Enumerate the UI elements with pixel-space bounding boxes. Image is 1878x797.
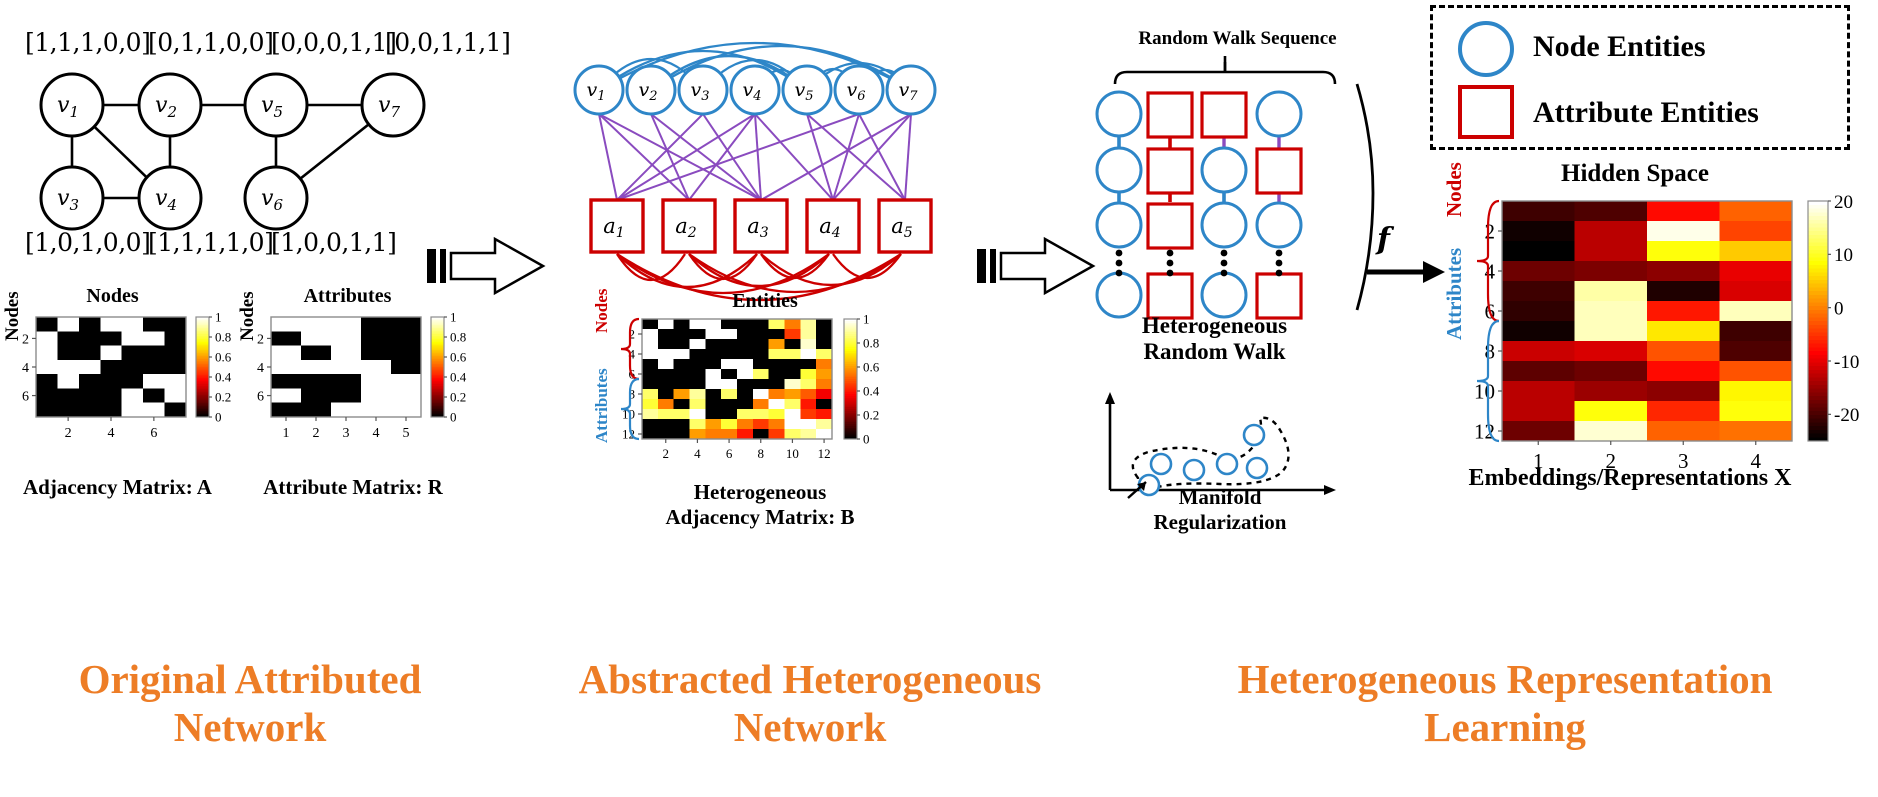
svg-text:20: 20 — [1834, 192, 1853, 213]
svg-text:12: 12 — [622, 427, 635, 442]
svg-text:4: 4 — [108, 426, 115, 441]
panel-heterogeneous-network: v1 v2 v3 v4 v5 v6 v7 a1 a2 a3 a4 a5 — [555, 0, 1045, 525]
svg-text:10: 10 — [1474, 380, 1495, 404]
svg-text:6: 6 — [150, 426, 157, 441]
svg-text:1: 1 — [450, 310, 457, 325]
matrix-a-ylabel: Nodes — [2, 291, 24, 341]
matrix-r-heatmap: 1234524610.80.60.40.20 — [235, 313, 465, 448]
matrix-r-caption: Attribute Matrix: R — [228, 475, 478, 500]
panel-hidden-space: Hidden Space Nodes Attributes 1234246810… — [1430, 160, 1878, 520]
svg-text:0.4: 0.4 — [863, 384, 880, 399]
svg-text:0: 0 — [450, 410, 457, 425]
svg-text:0.4: 0.4 — [215, 370, 232, 385]
hidden-space-ylabel-nodes: Nodes — [1442, 162, 1467, 217]
svg-text:6: 6 — [22, 390, 29, 405]
svg-text:5: 5 — [403, 426, 410, 441]
svg-text:12: 12 — [818, 446, 831, 461]
svg-text:2: 2 — [1485, 220, 1496, 244]
hidden-space-title: Hidden Space — [1460, 160, 1810, 188]
svg-text:3: 3 — [343, 426, 350, 441]
legend-label-attribute-entities: Attribute Entities — [1533, 96, 1759, 130]
svg-text:0.2: 0.2 — [863, 408, 879, 423]
svg-text:10: 10 — [786, 446, 799, 461]
function-symbol-f: f — [1377, 222, 1390, 257]
svg-text:0.6: 0.6 — [215, 350, 232, 365]
matrix-b-caption: Heterogeneous Adjacency Matrix: B — [595, 480, 925, 530]
svg-text:0: 0 — [1834, 299, 1844, 320]
svg-text:2: 2 — [663, 446, 670, 461]
svg-text:-10: -10 — [1834, 352, 1859, 373]
svg-text:6: 6 — [257, 390, 264, 405]
random-walk-diagram — [1105, 48, 1405, 348]
bipartite-graph: v1 v2 v3 v4 v5 v6 v7 a1 a2 a3 a4 a5 — [555, 10, 1025, 280]
svg-text:8: 8 — [758, 446, 765, 461]
matrix-b-title: Entities — [615, 290, 915, 313]
svg-text:0.4: 0.4 — [450, 370, 467, 385]
matrix-b-plot: Nodes Attributes 246810122468101210.80.6… — [590, 315, 920, 465]
svg-text:0.2: 0.2 — [215, 390, 231, 405]
hidden-space-plot: Nodes Attributes 12342468101220100-10-20 — [1442, 195, 1872, 450]
svg-text:2: 2 — [65, 426, 72, 441]
hidden-space-ylabel-attributes: Attributes — [1442, 248, 1467, 340]
svg-text:1: 1 — [215, 310, 222, 325]
stage-title-2: Abstracted Heterogeneous Network — [520, 655, 1100, 752]
legend-label-node-entities: Node Entities — [1533, 30, 1706, 64]
svg-text:4: 4 — [694, 446, 701, 461]
matrix-b-ylabel-attributes: Attributes — [592, 368, 612, 443]
svg-text:0: 0 — [215, 410, 222, 425]
svg-text:-20: -20 — [1834, 405, 1859, 426]
svg-text:12: 12 — [1474, 420, 1495, 444]
attr-vector-top-4: [0,0,1,1,1] — [385, 28, 510, 57]
svg-text:0.6: 0.6 — [450, 350, 467, 365]
random-walk-sequence-label: Random Walk Sequence — [1105, 28, 1370, 50]
matrix-a-plot: Nodes 24624610.80.60.40.20 — [0, 313, 230, 448]
matrix-r-ylabel: Nodes — [237, 291, 259, 341]
stage-title-1: Original Attributed Network — [40, 655, 460, 752]
svg-text:2: 2 — [313, 426, 320, 441]
hidden-space-heatmap: 12342468101220100-10-20 — [1442, 195, 1872, 450]
attr-vector-top-2: [0,1,1,0,0] — [148, 28, 273, 57]
svg-text:8: 8 — [1485, 340, 1496, 364]
svg-text:4: 4 — [22, 361, 29, 376]
svg-text:0.8: 0.8 — [215, 330, 231, 345]
matrix-b-heatmap: 246810122468101210.80.60.40.20 — [590, 315, 920, 465]
attributed-graph: v1 v2 v5 v7 v3 v4 v6 — [0, 55, 500, 235]
attr-vector-bottom-2: [1,1,1,1,0] — [148, 228, 273, 257]
manifold-regularization-caption: Manifold Regularization — [1095, 485, 1345, 535]
stage-title-3: Heterogeneous Representation Learning — [1160, 655, 1850, 752]
svg-text:0: 0 — [863, 432, 870, 447]
attr-vector-top-1: [1,1,1,0,0] — [25, 28, 150, 57]
svg-text:10: 10 — [1834, 245, 1853, 266]
svg-text:1: 1 — [863, 312, 870, 327]
svg-text:0.8: 0.8 — [863, 336, 879, 351]
matrix-a-heatmap: 24624610.80.60.40.20 — [0, 313, 230, 448]
matrix-b-ylabel-nodes: Nodes — [592, 289, 612, 333]
heterogeneous-random-walk-caption: Heterogeneous Random Walk — [1097, 313, 1332, 366]
svg-text:0.2: 0.2 — [450, 390, 466, 405]
transition-arrow-1 — [425, 235, 550, 300]
matrix-a-caption: Adjacency Matrix: A — [0, 475, 235, 500]
transition-arrow-2 — [975, 235, 1100, 300]
svg-text:0.8: 0.8 — [450, 330, 466, 345]
matrix-r-plot: Nodes 1234524610.80.60.40.20 — [235, 313, 465, 448]
panel-representation-learning: Random Walk Sequence — [1105, 0, 1425, 540]
attr-vector-bottom-1: [1,0,1,0,0] — [25, 228, 150, 257]
svg-text:0.6: 0.6 — [863, 360, 880, 375]
svg-text:4: 4 — [257, 361, 264, 376]
svg-text:6: 6 — [726, 446, 733, 461]
attr-vector-bottom-3: [1,0,0,1,1] — [271, 228, 396, 257]
svg-text:1: 1 — [283, 426, 290, 441]
legend-circle-icon — [1455, 20, 1517, 78]
hidden-space-xlabel: Embeddings/Representations X — [1430, 465, 1830, 492]
attr-vector-top-3: [0,0,0,1,1] — [271, 28, 396, 57]
matrix-a-title: Nodes — [0, 285, 225, 308]
legend-square-icon — [1455, 84, 1517, 140]
legend-box: Node Entities Attribute Entities — [1430, 5, 1850, 150]
svg-text:4: 4 — [373, 426, 380, 441]
